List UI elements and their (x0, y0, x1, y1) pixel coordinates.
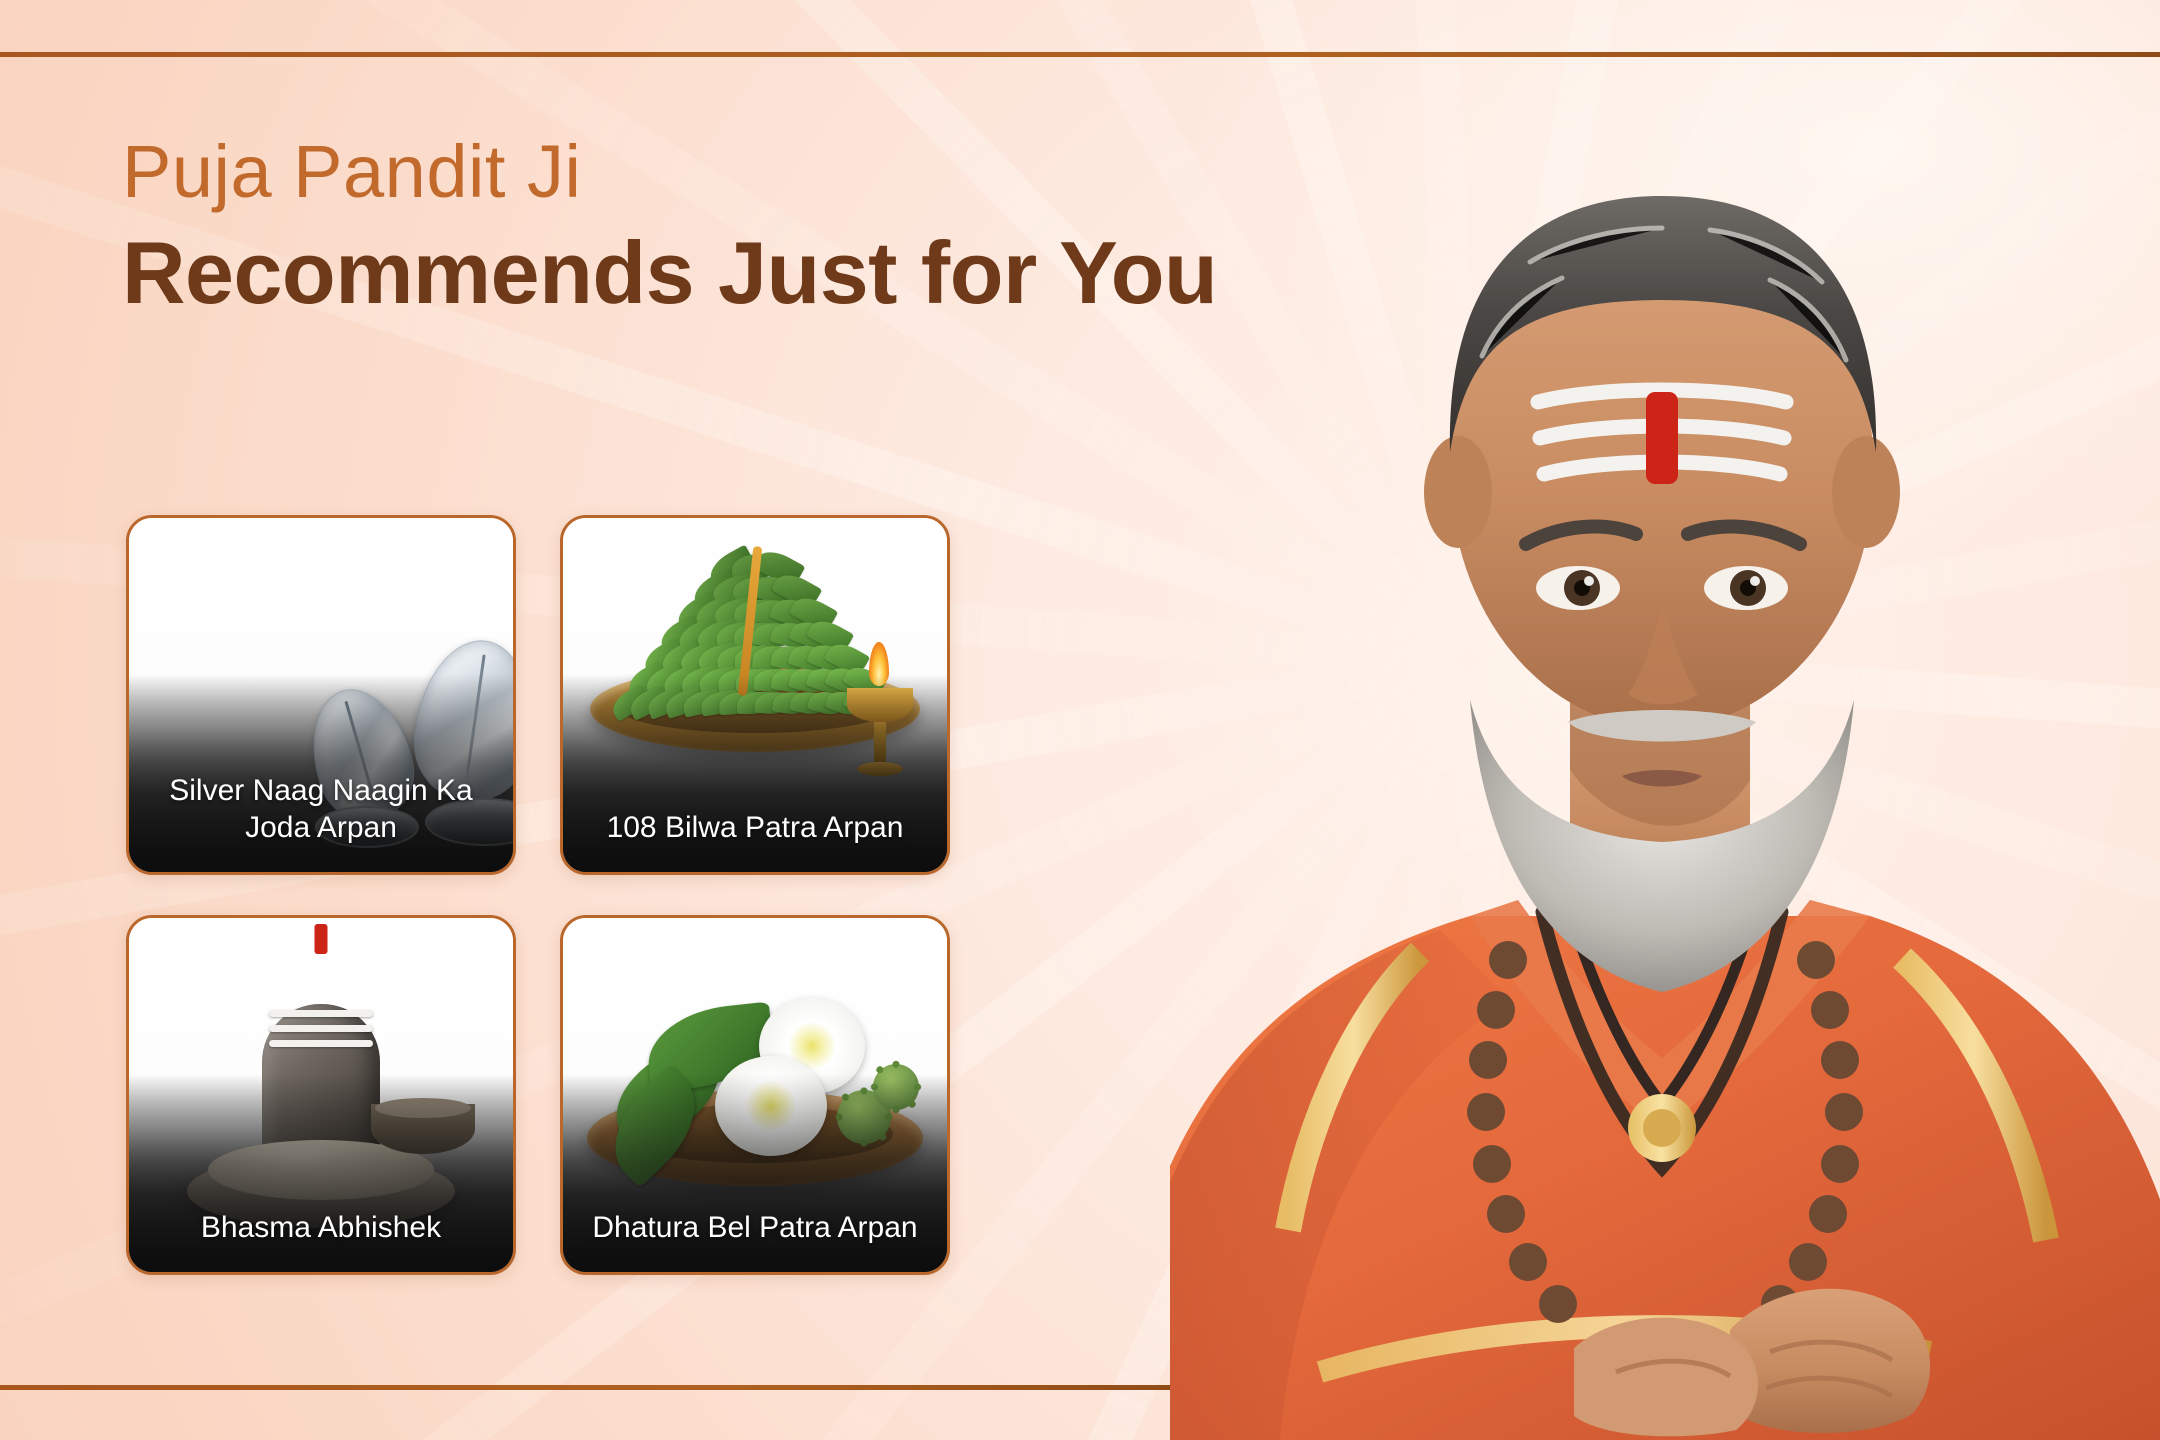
recommendation-card-bhasma-abhishek[interactable]: Bhasma Abhishek (126, 915, 516, 1275)
recommendation-card-silver-naag[interactable]: Silver Naag Naagin Ka Joda Arpan (126, 515, 516, 875)
heading-line-1: Puja Pandit Ji (122, 128, 1217, 215)
heading-block: Puja Pandit Ji Recommends Just for You (122, 128, 1217, 322)
card-label: Silver Naag Naagin Ka Joda Arpan (139, 772, 503, 846)
recommendation-grid: Silver Naag Naagin Ka Joda Arpan 108 Bil… (126, 515, 950, 1275)
recommendation-card-dhatura-bel-patra[interactable]: Dhatura Bel Patra Arpan (560, 915, 950, 1275)
bottom-rule (0, 1385, 1196, 1390)
pandit-illustration (1170, 0, 2160, 1440)
card-label: Dhatura Bel Patra Arpan (573, 1209, 937, 1246)
page-title: Recommends Just for You (122, 225, 1217, 322)
banner-stage: Puja Pandit Ji Recommends Just for You S… (0, 0, 2160, 1440)
card-label: Bhasma Abhishek (139, 1209, 503, 1246)
recommendation-card-bilwa-patra[interactable]: 108 Bilwa Patra Arpan (560, 515, 950, 875)
pandit-portrait (1170, 0, 2160, 1440)
card-label: 108 Bilwa Patra Arpan (573, 809, 937, 846)
